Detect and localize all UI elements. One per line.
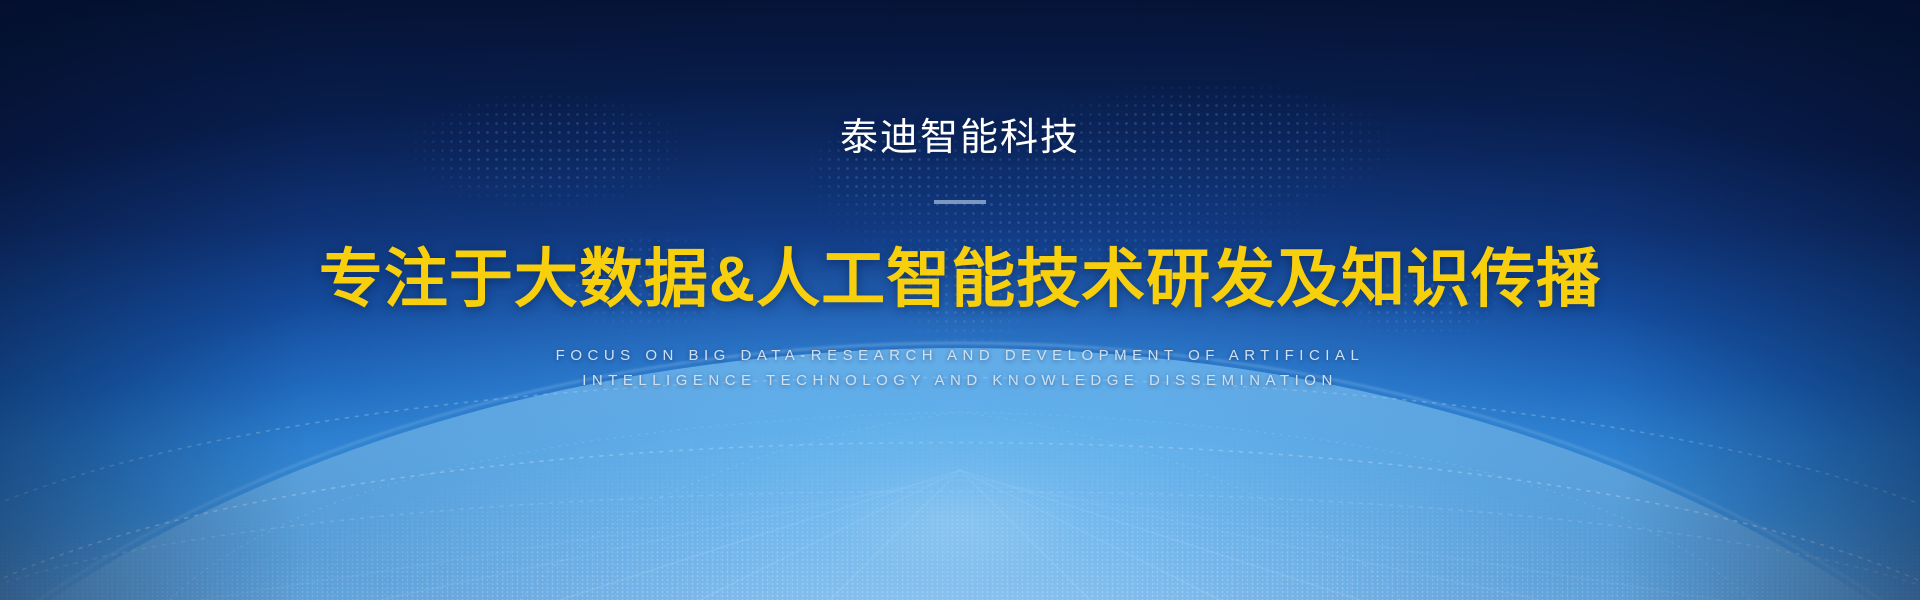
title-divider — [934, 200, 986, 204]
subtitle-line-1: FOCUS ON BIG DATA-RESEARCH AND DEVELOPME… — [556, 343, 1365, 368]
subtitle-line-2: INTELLIGENCE TECHNOLOGY AND KNOWLEDGE DI… — [556, 368, 1365, 393]
banner-content: 泰迪智能科技 专注于大数据&人工智能技术研发及知识传播 FOCUS ON BIG… — [0, 0, 1920, 600]
headline-slogan: 专注于大数据&人工智能技术研发及知识传播 — [319, 244, 1601, 316]
hero-banner: 泰迪智能科技 专注于大数据&人工智能技术研发及知识传播 FOCUS ON BIG… — [0, 0, 1920, 600]
brand-title: 泰迪智能科技 — [840, 118, 1080, 160]
subtitle-block: FOCUS ON BIG DATA-RESEARCH AND DEVELOPME… — [556, 343, 1365, 393]
